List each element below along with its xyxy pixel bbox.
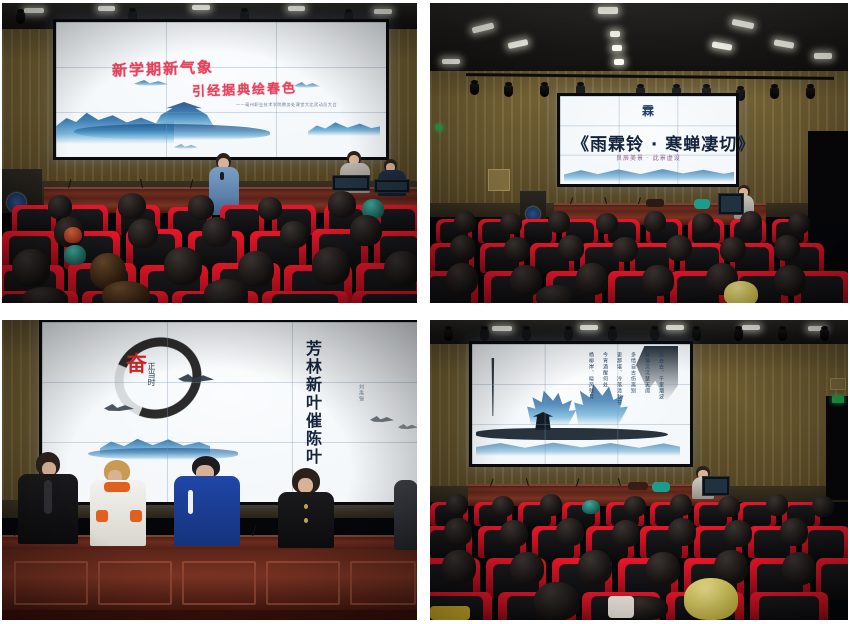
audience-head xyxy=(454,211,476,233)
audience-head xyxy=(48,195,72,219)
audience-head xyxy=(718,496,740,517)
ceiling-light xyxy=(612,45,622,51)
slide-seal: 霖 xyxy=(642,102,654,119)
audience-head xyxy=(22,287,68,303)
audience-head xyxy=(446,263,478,295)
poem-line: 念去去、千里烟波 xyxy=(658,352,665,400)
presenter-partial xyxy=(394,480,417,550)
audience-head xyxy=(668,518,696,546)
slide-side-text: 正当时 xyxy=(146,362,156,386)
slide-title: 《雨霖铃 · 寒蝉凄切》 xyxy=(572,130,755,155)
audience-head xyxy=(782,552,816,585)
audience-head xyxy=(328,191,356,218)
audience-head xyxy=(492,496,514,517)
photo-collage: 新学期新气象 引经据典绘春色 ——亳州职业技术学院教务处课堂大比武动员大会 xyxy=(0,0,850,624)
audience-head xyxy=(350,215,382,246)
ceiling-light xyxy=(614,59,624,65)
slide-signature: 刘禹锡 xyxy=(358,384,365,402)
audience-head xyxy=(500,213,522,234)
led-video-wall: 念去去、千里烟波 暮霭沉沉楚天阔 多情自古伤离别 更那堪、冷落清秋节 今宵酒醒何… xyxy=(472,344,690,464)
photo-panel-top-left: 新学期新气象 引经据典绘春色 ——亳州职业技术学院教务处课堂大比武动员大会 xyxy=(2,3,417,303)
presenter-3 xyxy=(174,456,240,546)
slide-subtitle: ——亳州职业技术学院教务处课堂大比武动员大会 xyxy=(236,102,337,108)
stage-lamp-icon xyxy=(820,329,829,341)
audience-head xyxy=(442,550,476,584)
audience-head xyxy=(504,237,530,262)
audience-head xyxy=(164,247,202,285)
slide-subtitle: 良辰美景 · 此景虚设 xyxy=(616,153,681,162)
audience-head xyxy=(666,235,692,261)
exit-sign-icon xyxy=(832,396,844,403)
led-video-wall: 霖 《雨霖铃 · 寒蝉凄切》 良辰美景 · 此景虚设 xyxy=(560,96,736,184)
audience-head xyxy=(548,211,570,233)
audience-head xyxy=(258,197,282,220)
led-video-wall: 新学期新气象 引经据典绘春色 ——亳州职业技术学院教务处课堂大比武动员大会 xyxy=(56,22,386,157)
audience-head xyxy=(444,518,472,546)
audience-head xyxy=(202,217,232,247)
audience-head xyxy=(578,550,612,584)
audience-head xyxy=(238,251,274,287)
audience-head xyxy=(624,496,646,517)
slide-vertical-poem-block: 念去去、千里烟波 暮霭沉沉楚天阔 多情自古伤离别 更那堪、冷落清秋节 今宵酒醒何… xyxy=(472,344,690,464)
stage-lamp-icon xyxy=(480,329,489,341)
stage-lamp-icon xyxy=(608,329,617,341)
audience-head xyxy=(646,552,680,585)
audience-head xyxy=(534,582,580,620)
audience-head xyxy=(780,518,808,546)
audience-head xyxy=(510,552,544,585)
ceiling-light xyxy=(374,9,392,14)
photo-panel-bottom-left: 奋 正当时 芳林新叶催陈叶 刘禹锡 xyxy=(2,320,417,620)
stage-lamp-icon xyxy=(806,87,815,99)
poem-line: 暮霭沉沉楚天阔 xyxy=(644,352,651,394)
doorway xyxy=(826,396,848,500)
slide-vertical-poem: 芳林新叶催陈叶 xyxy=(304,340,320,466)
audience-head xyxy=(188,195,214,220)
presenter-1 xyxy=(18,452,78,544)
audience-head xyxy=(724,520,752,547)
audience-head xyxy=(540,494,562,516)
ceiling-light xyxy=(742,325,760,330)
wall-panel-box xyxy=(488,169,510,191)
doorway xyxy=(808,131,848,223)
laptop xyxy=(718,193,744,215)
wall-panel-box xyxy=(830,378,846,390)
audience-head xyxy=(724,281,758,303)
exit-sign-icon xyxy=(436,125,442,130)
stage-lamp-icon xyxy=(504,85,513,97)
stage-lamp-icon xyxy=(522,329,531,341)
ceiling-light xyxy=(580,325,598,330)
audience-head xyxy=(582,500,600,514)
laptop xyxy=(332,175,370,191)
ceiling-light xyxy=(24,8,44,13)
audience-head xyxy=(812,496,834,517)
audience-head xyxy=(204,279,248,303)
stage-lamp-icon xyxy=(540,85,549,97)
stage-lamp-icon xyxy=(770,87,779,99)
ceiling-light xyxy=(610,31,620,37)
audience-head-with-cap xyxy=(684,578,738,620)
audience-head xyxy=(692,213,714,234)
audience-head xyxy=(12,249,50,287)
audience-head xyxy=(766,494,788,516)
stage-lamp-icon xyxy=(734,329,743,341)
stage-lamp-icon xyxy=(736,89,745,101)
ceiling-light xyxy=(492,326,512,331)
audience-head xyxy=(576,263,608,295)
audience-head xyxy=(384,251,417,287)
ceiling-light xyxy=(288,6,305,11)
slide-line-1: 新学期新气象 xyxy=(112,56,215,81)
ceiling-light xyxy=(814,53,832,59)
stage-lamp-icon xyxy=(444,329,453,341)
photo-panel-top-right: 霖 《雨霖铃 · 寒蝉凄切》 良辰美景 · 此景虚设 xyxy=(430,3,848,303)
audience-head xyxy=(558,235,584,261)
audience-head xyxy=(500,520,528,547)
stage-lamp-icon xyxy=(16,12,25,24)
slide-seal: 奋 xyxy=(126,348,147,378)
audience-head xyxy=(556,518,584,546)
audience-head xyxy=(102,281,150,303)
audience-head xyxy=(312,247,350,285)
audience-head xyxy=(450,235,476,261)
ceiling-light xyxy=(598,7,618,14)
audience-head xyxy=(118,193,146,219)
audience-head xyxy=(788,213,810,234)
audience-head xyxy=(128,219,158,248)
stage-table-front xyxy=(2,549,417,611)
audience-head xyxy=(64,227,82,243)
poem-line: 今宵酒醒何处 xyxy=(602,352,609,388)
audience-head xyxy=(642,265,674,296)
audience-head xyxy=(720,237,746,262)
ceiling-light xyxy=(666,325,684,330)
laptop xyxy=(374,179,410,193)
audience-head xyxy=(644,211,666,233)
audience-head xyxy=(740,211,762,233)
stage-lamp-icon xyxy=(470,83,479,95)
audience-head xyxy=(536,285,576,303)
audience-head xyxy=(280,221,308,248)
audience-head xyxy=(774,265,806,296)
audience-head xyxy=(446,494,468,516)
photo-panel-bottom-right: 念去去、千里烟波 暮霭沉沉楚天阔 多情自古伤离别 更那堪、冷落清秋节 今宵酒醒何… xyxy=(430,320,848,620)
audience-head xyxy=(612,520,640,547)
audience-head xyxy=(670,494,692,516)
audience-head xyxy=(596,213,618,234)
audience-head xyxy=(612,237,638,262)
stage-lamp-icon xyxy=(692,329,701,341)
presenter-4 xyxy=(278,468,334,546)
poem-line: 更那堪、冷落清秋节 xyxy=(616,352,623,406)
stage-lamp-icon xyxy=(650,329,659,341)
stage-lamp-icon xyxy=(564,329,573,341)
presenter-2 xyxy=(90,460,146,546)
poem-line: 杨柳岸、晓风残月 xyxy=(588,352,595,400)
poem-line: 多情自古伤离别 xyxy=(630,352,637,394)
stage-lamp-icon xyxy=(778,329,787,341)
slide-line-2: 引经据典绘春色 xyxy=(192,77,298,100)
ceiling-light xyxy=(442,59,460,64)
laptop xyxy=(702,476,730,496)
ceiling-light xyxy=(192,5,210,10)
audience-head xyxy=(774,235,800,261)
audience-head xyxy=(64,245,86,265)
ceiling-light xyxy=(98,6,115,11)
